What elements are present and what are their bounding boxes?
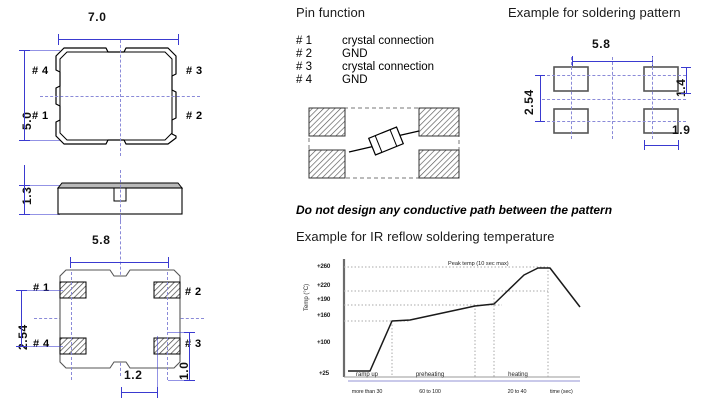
pin-function-title: Pin function — [296, 5, 496, 20]
pin-label-4-bottom: # 4 — [33, 338, 50, 350]
dim-tick-bw-left — [70, 257, 71, 268]
pin-label-2-top: # 2 — [186, 110, 203, 122]
centerline-pad-left — [71, 272, 72, 380]
pin-function-row: # 4 GND — [296, 74, 434, 86]
pin-function-pin: # 4 — [296, 74, 342, 86]
dim-tick-14-bottom — [681, 93, 691, 94]
pin-function-pin: # 1 — [296, 35, 342, 47]
chart-zone-label-preheating: preheating — [402, 372, 458, 378]
dimension-solder-pad-width-1-9: 1.9 — [672, 123, 690, 137]
ext-pitch-bottom — [21, 346, 63, 347]
pin-label-2-bottom: # 2 — [185, 286, 202, 298]
centerline-solder-pad-right — [652, 57, 653, 139]
centerline-solder-row-mid — [542, 99, 686, 100]
pin-label-3-top: # 3 — [186, 65, 203, 77]
chart-zone-label-ramp-up: ramp up — [346, 372, 388, 378]
bottom-view-drawing: 5.8 # 1 # 2 # 3 # 4 2.54 1.2 1.0 — [0, 228, 280, 412]
dimension-solder-width-5-8: 5.8 — [592, 37, 610, 51]
chart-ytick-25: +25 — [319, 370, 329, 377]
chart-xlabel-ramp-up-duration: more than 30 — [336, 389, 398, 395]
dimension-bottom-width-5-8: 5.8 — [92, 233, 110, 247]
chart-xlabel-preheating-duration: 60 to 100 — [402, 389, 458, 395]
conductive-path-warning: Do not design any conductive path betwee… — [296, 203, 612, 217]
dim-tick-19-right — [678, 140, 679, 150]
chart-ytick-100: +100 — [317, 339, 330, 346]
chart-plot-area — [342, 259, 582, 381]
pin-label-1-top: # 1 — [32, 110, 49, 122]
dim-tick-14-top — [681, 67, 691, 68]
chart-peak-temp-annotation: Peak temp (10 sec max) — [448, 261, 509, 267]
pin-function-pin: # 3 — [296, 61, 342, 73]
centerline-solder-pad-left — [571, 57, 572, 139]
chart-xlabel-heating-duration: 20 to 40 — [490, 389, 544, 395]
chart-ytick-260: +260 — [317, 263, 330, 270]
dim-tick-spitch-top — [535, 75, 545, 76]
chart-ytick-220: +220 — [317, 282, 330, 289]
dim-line-thickness — [24, 165, 25, 215]
bottom-pads-group — [58, 268, 182, 370]
ext-pitch-top — [21, 290, 63, 291]
soldering-pattern-title: Example for soldering pattern — [508, 5, 681, 20]
dim-tick-bw-right — [168, 257, 169, 268]
ir-reflow-chart: Temp (°C) +260 +220 +190 +160 +100 +25 P… — [298, 253, 598, 411]
ext-ph-bottom — [168, 380, 192, 381]
chart-zone-label-heating: heating — [494, 372, 542, 378]
chart-y-axis-title: Temp (°C) — [304, 284, 310, 311]
chart-ytick-190: +190 — [317, 296, 330, 303]
pin-label-1-bottom: # 1 — [33, 282, 50, 294]
dim-line-pad-width — [121, 392, 157, 393]
reflow-section-heading: Example for IR reflow soldering temperat… — [296, 229, 555, 244]
dim-line-height-left — [24, 50, 25, 140]
centerline-solder-row-top — [542, 75, 686, 76]
pin-function-row: # 3 crystal connection — [296, 61, 434, 73]
centerline-solder-row-bottom — [542, 121, 686, 122]
dim-tick-pw-left — [121, 387, 122, 398]
pin-function-desc: crystal connection — [342, 35, 434, 47]
chart-ytick-160: +160 — [317, 312, 330, 319]
dim-line-pad-w19 — [644, 145, 678, 146]
ext-ph-top — [168, 332, 192, 333]
pin-function-row: # 2 GND — [296, 48, 434, 60]
soldering-pattern-section: Example for soldering pattern 5.8 2.54 1… — [508, 5, 713, 155]
pin-label-4-top: # 4 — [32, 65, 49, 77]
pin-function-section: Pin function # 1 crystal connection # 2 … — [296, 5, 496, 20]
dimension-width-7-0: 7.0 — [88, 10, 106, 24]
centerline-vertical-top-view — [120, 40, 121, 156]
dim-line-pad-height — [189, 332, 190, 380]
dim-tick-19-left — [644, 140, 645, 150]
pin-function-list: # 1 crystal connection # 2 GND # 3 cryst… — [296, 35, 434, 86]
pin-function-row: # 1 crystal connection — [296, 35, 434, 47]
centerline-horizontal-top-view — [40, 96, 200, 97]
centerline-pad-right — [167, 272, 168, 380]
pin-label-3-bottom: # 3 — [185, 338, 202, 350]
dim-line-width-top — [58, 39, 178, 40]
dimension-solder-pitch-2-54: 2.54 — [522, 89, 536, 115]
pin-function-desc: GND — [342, 74, 368, 86]
pin-function-desc: GND — [342, 48, 368, 60]
top-view-drawing: 7.0 5.0 # 4 # 3 # 1 # 2 1.3 — [0, 0, 280, 225]
internal-crystal-layout — [305, 104, 465, 182]
dim-line-solder-pitch — [540, 75, 541, 121]
chart-x-axis-title: time (sec) — [550, 389, 594, 395]
dim-line-pad-h14 — [686, 67, 687, 93]
dimension-pad-width-1-2: 1.2 — [124, 368, 142, 382]
centerline-vertical-side-view — [120, 170, 121, 222]
dim-line-pad-pitch — [21, 290, 22, 346]
dimension-thickness-1-3: 1.3 — [20, 187, 34, 205]
pin-function-pin: # 2 — [296, 48, 342, 60]
dim-tick-right-top — [178, 34, 179, 45]
dim-tick-left-top — [58, 34, 59, 45]
dim-line-bottom-width — [70, 262, 168, 263]
pin-function-desc: crystal connection — [342, 61, 434, 73]
dim-tick-spitch-bottom — [535, 121, 545, 122]
ext-pad-width — [157, 336, 158, 392]
centerline-solder-middle — [612, 57, 613, 139]
